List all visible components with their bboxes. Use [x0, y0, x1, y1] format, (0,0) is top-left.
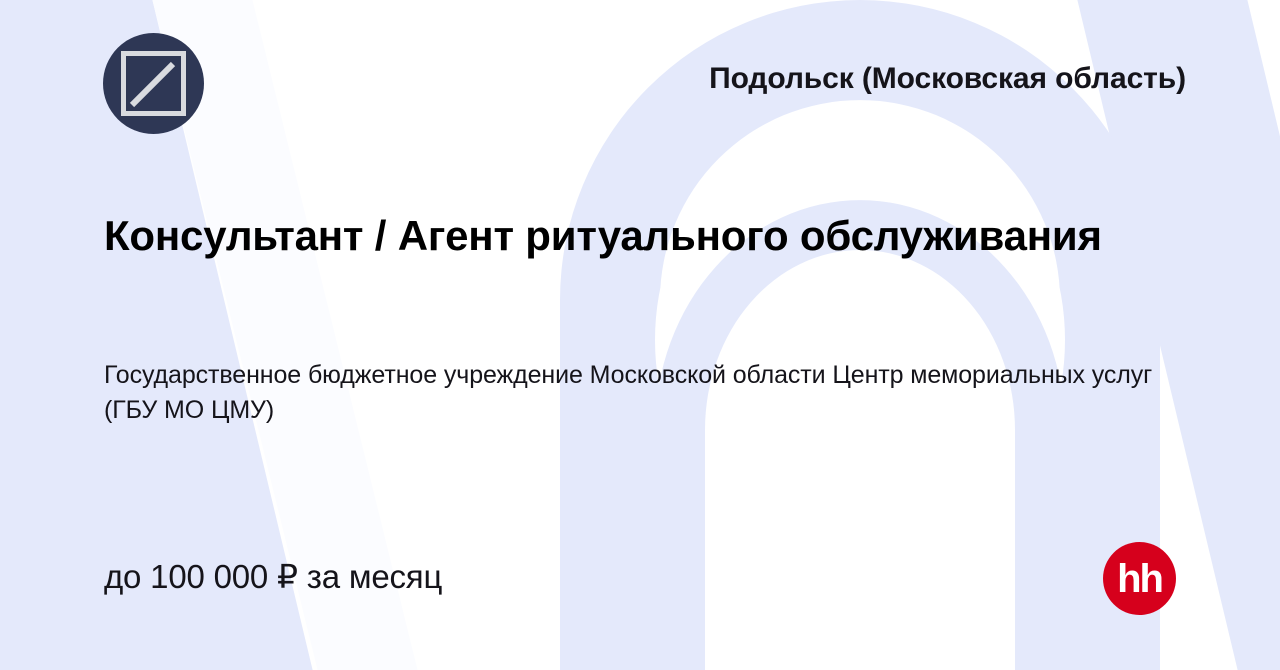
location-label: Подольск (Московская область)	[709, 62, 1186, 96]
employer-name[interactable]: Государственное бюджетное учреждение Мос…	[104, 358, 1184, 428]
salary-label: до 100 000 ₽ за месяц	[104, 557, 442, 597]
company-logo[interactable]	[103, 33, 204, 134]
hh-logo-icon[interactable]: hh	[1103, 542, 1176, 615]
card-content: Подольск (Московская область) Консультан…	[0, 0, 1280, 670]
hh-logo-text: hh	[1117, 557, 1162, 601]
job-title: Консультант / Агент ритуального обслужив…	[104, 210, 1194, 261]
vacancy-card: Подольск (Московская область) Консультан…	[0, 0, 1280, 670]
